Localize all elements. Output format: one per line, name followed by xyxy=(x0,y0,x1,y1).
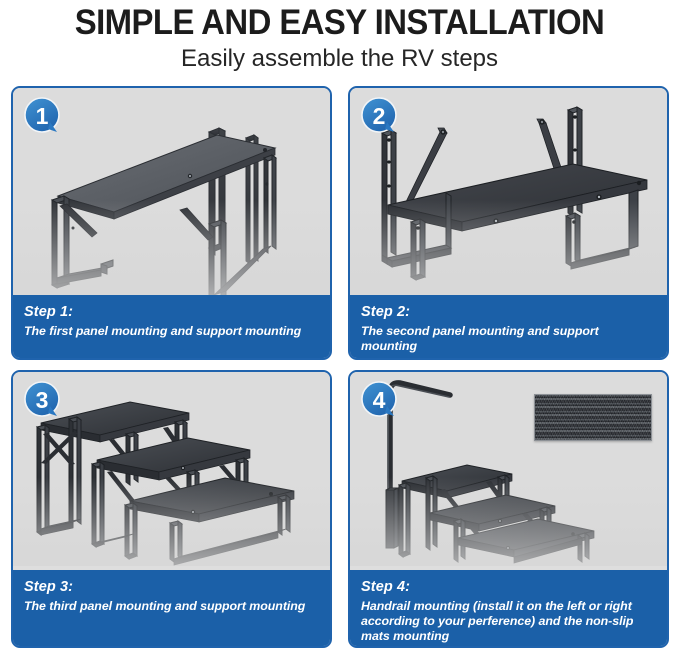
number-bubble-icon: 2 xyxy=(360,96,401,137)
page-subtitle: Easily assemble the RV steps xyxy=(0,43,679,74)
step-badge-4: 4 xyxy=(360,380,401,421)
step-card-3[interactable]: 3 Step 3: The third panel mounting and s… xyxy=(11,370,332,648)
step-badge-2: 2 xyxy=(360,96,401,137)
step-2-title: Step 2: xyxy=(361,303,656,321)
steps-grid: 1 Step 1: The first panel mounting and s… xyxy=(11,86,669,648)
step-2-caption: Step 2: The second panel mounting and su… xyxy=(350,295,667,358)
step-card-1[interactable]: 1 Step 1: The first panel mounting and s… xyxy=(11,86,332,360)
step-3-title: Step 3: xyxy=(24,578,319,596)
step-2-text: The second panel mounting and support mo… xyxy=(361,324,656,354)
badge-number-4: 4 xyxy=(373,387,386,413)
badge-number-3: 3 xyxy=(36,387,49,413)
step-card-4[interactable]: 4 Step 4: Handrail mounting (install it … xyxy=(348,370,669,648)
header: SIMPLE AND EASY INSTALLATION Easily asse… xyxy=(0,0,679,74)
page-title: SIMPLE AND EASY INSTALLATION xyxy=(20,4,658,43)
badge-number-1: 1 xyxy=(36,103,49,129)
step-card-2[interactable]: 2 Step 2: The second panel mounting and … xyxy=(348,86,669,360)
step-3-caption: Step 3: The third panel mounting and sup… xyxy=(13,570,330,646)
badge-number-2: 2 xyxy=(373,103,386,129)
step-badge-1: 1 xyxy=(23,96,64,137)
number-bubble-icon: 1 xyxy=(23,96,64,137)
non-slip-mat-swatch xyxy=(534,394,652,441)
step-4-title: Step 4: xyxy=(361,578,656,596)
step-4-caption: Step 4: Handrail mounting (install it on… xyxy=(350,570,667,646)
step-badge-3: 3 xyxy=(23,380,64,421)
step-3-text: The third panel mounting and support mou… xyxy=(24,599,319,614)
step-4-text: Handrail mounting (install it on the lef… xyxy=(361,599,656,644)
step-1-caption: Step 1: The first panel mounting and sup… xyxy=(13,295,330,358)
number-bubble-icon: 3 xyxy=(23,380,64,421)
step-1-text: The first panel mounting and support mou… xyxy=(24,324,319,339)
number-bubble-icon: 4 xyxy=(360,380,401,421)
step-1-title: Step 1: xyxy=(24,303,319,321)
